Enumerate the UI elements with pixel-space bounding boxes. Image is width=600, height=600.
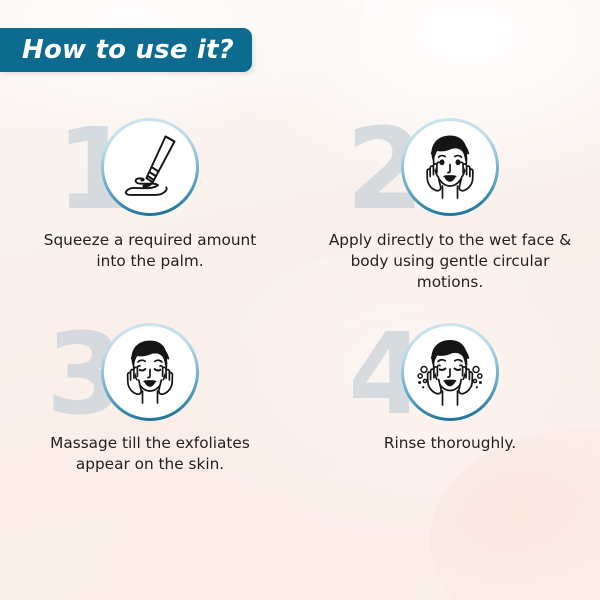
face-apply-product-icon: [409, 126, 491, 208]
page-title-banner: How to use it?: [0, 28, 252, 72]
step-caption: Apply directly to the wet face & body us…: [328, 230, 573, 293]
step-caption: Squeeze a required amount into the palm.: [28, 230, 273, 272]
step-item-1: 1: [0, 118, 300, 293]
face-massage-icon: [109, 331, 191, 413]
step-icon-circle: [101, 323, 199, 421]
step-icon-circle: [401, 118, 499, 216]
step-item-2: 2: [300, 118, 600, 293]
steps-row: 1: [0, 118, 600, 293]
tube-squeeze-into-palm-icon: [111, 128, 189, 206]
page-title: How to use it?: [22, 35, 234, 65]
step-item-4: 4: [300, 323, 600, 475]
infographic-canvas: How to use it? 1: [0, 0, 600, 600]
face-rinse-water-bubbles-icon: [407, 329, 493, 415]
step-icon-circle: [101, 118, 199, 216]
step-icon-circle: [401, 323, 499, 421]
steps-grid: 1: [0, 118, 600, 475]
step-item-3: 3: [0, 323, 300, 475]
steps-row: 3: [0, 323, 600, 475]
